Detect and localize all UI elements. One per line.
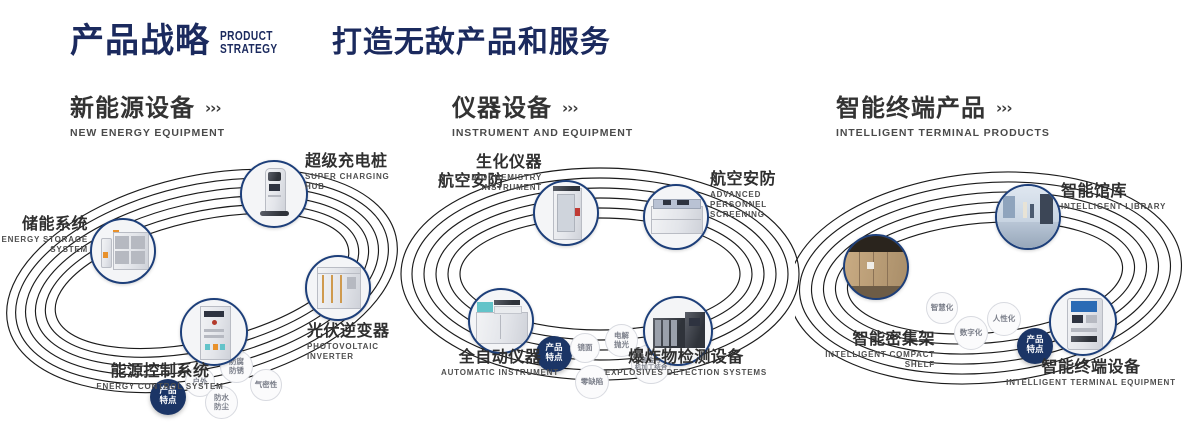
section-title-en: NEW ENERGY EQUIPMENT — [70, 127, 225, 139]
inverter-artwork — [307, 257, 369, 319]
node-intelligent-library[interactable] — [995, 184, 1061, 250]
node-intelligent-terminal-equipment[interactable] — [1049, 288, 1117, 356]
node-energy-control-system[interactable] — [180, 298, 248, 366]
label-en: SUPER CHARGING HUB — [305, 172, 402, 192]
label-cn: 储能系统 — [0, 215, 88, 233]
label-energy-storage-system: 储能系统 ENERGY STORAGE SYSTEM — [0, 215, 88, 255]
label-advanced-personnel-screening: 航空安防 ADVANCED PERSONNEL SCREENING — [710, 170, 800, 220]
terminal-equipment-artwork — [1051, 290, 1115, 354]
node-super-charging-hub[interactable] — [240, 160, 308, 228]
section-header-instrument: 仪器设备 ››› INSTRUMENT AND EQUIPMENT — [452, 96, 633, 139]
cluster-intelligent: 智慧化 数字化 人性化 产品 特点 — [795, 150, 1195, 412]
chevrons-right-icon: ››› — [562, 101, 578, 116]
feature-bubble: 人性化 — [987, 302, 1021, 336]
label-en: ENERGY CONTROL SYSTEM — [80, 382, 240, 392]
label-explosives-detection-systems: 爆炸物检测设备 EXPLOSIVES DETECTION SYSTEMS — [596, 348, 776, 378]
chevrons-right-icon: ››› — [205, 101, 221, 116]
label-cn: 生化仪器 — [430, 153, 542, 171]
compact-shelf-artwork — [845, 236, 907, 298]
label-en: INTELLIGENT TERMINAL EQUIPMENT — [991, 378, 1191, 388]
section-title-cn: 智能终端产品 — [836, 96, 986, 120]
energy-storage-artwork — [92, 220, 154, 282]
label-en: ADVANCED PERSONNEL SCREENING — [710, 190, 800, 220]
node-biochemistry-instrument[interactable] — [533, 180, 599, 246]
label-cn: 航空安防 — [710, 170, 800, 188]
label-intelligent-library: 智能馆库 INTELLIGENT LIBRARY — [1061, 182, 1166, 212]
label-cn: 超级充电桩 — [305, 152, 402, 170]
library-artwork — [997, 186, 1059, 248]
label-cn: 智能密集架 — [805, 330, 935, 348]
cluster-instrument: 产品 特点 镜面 电解 抛光 钣金与 机加工结合 零缺陷 — [400, 150, 800, 412]
page-title: 产品战略 — [70, 24, 210, 58]
section-title-en: INSTRUMENT AND EQUIPMENT — [452, 127, 633, 139]
product-strategy-infographic: 产品战略 PRODUCT STRATEGY 打造无敌产品和服务 新能源设备 ››… — [0, 0, 1200, 422]
section-header-intelligent: 智能终端产品 ››› INTELLIGENT TERMINAL PRODUCTS — [836, 96, 1050, 139]
label-photovoltaic-inverter: 光伏逆变器 PHOTOVOLTAIC INVERTER — [307, 322, 402, 362]
feature-bubble: 气密性 — [250, 369, 282, 401]
label-cn: 爆炸物检测设备 — [596, 348, 776, 366]
label-biochemistry-instrument: 生化仪器 BIOCHEMISTRY INSTRUMENT — [430, 153, 542, 193]
page-title-en: PRODUCT STRATEGY — [220, 29, 278, 56]
section-title-cn: 新能源设备 — [70, 96, 195, 120]
label-en: INTELLIGENT COMPACT SHELF — [805, 350, 935, 370]
screening-artwork — [645, 186, 707, 248]
label-cn: 智能终端设备 — [991, 358, 1191, 376]
automatic-instrument-artwork — [470, 290, 532, 352]
label-energy-control-system: 能源控制系统 ENERGY CONTROL SYSTEM — [80, 362, 240, 392]
label-cn: 能源控制系统 — [80, 362, 240, 380]
biochemistry-artwork — [535, 182, 597, 244]
chevrons-right-icon: ››› — [996, 101, 1012, 116]
node-advanced-personnel-screening[interactable] — [643, 184, 709, 250]
label-en: ENERGY STORAGE SYSTEM — [0, 235, 88, 255]
section-title-cn: 仪器设备 — [452, 96, 552, 120]
control-system-artwork — [182, 300, 246, 364]
label-intelligent-compact-shelf: 智能密集架 INTELLIGENT COMPACT SHELF — [805, 330, 935, 370]
page-header: 产品战略 PRODUCT STRATEGY 打造无敌产品和服务 — [70, 24, 611, 58]
label-en: PHOTOVOLTAIC INVERTER — [307, 342, 402, 362]
label-en: EXPLOSIVES DETECTION SYSTEMS — [596, 368, 776, 378]
page-subtitle: 打造无敌产品和服务 — [332, 28, 611, 58]
feature-bubble: 智慧化 — [926, 292, 958, 324]
label-automatic-instrument: 全自动仪器 AUTOMATIC INSTRUMENT — [420, 348, 580, 378]
node-photovoltaic-inverter[interactable] — [305, 255, 371, 321]
section-title-en: INTELLIGENT TERMINAL PRODUCTS — [836, 127, 1050, 139]
cluster-new-energy: 产品 特点 户外 防腐 防锈 防水 防尘 气密性 — [2, 150, 402, 412]
label-cn: 全自动仪器 — [420, 348, 580, 366]
charging-hub-artwork — [242, 162, 306, 226]
label-en: AUTOMATIC INSTRUMENT — [420, 368, 580, 378]
node-intelligent-compact-shelf[interactable] — [843, 234, 909, 300]
node-automatic-instrument[interactable] — [468, 288, 534, 354]
node-energy-storage-system[interactable] — [90, 218, 156, 284]
label-en: INTELLIGENT LIBRARY — [1061, 202, 1166, 212]
label-cn: 智能馆库 — [1061, 182, 1166, 200]
feature-bubble: 数字化 — [954, 316, 988, 350]
label-super-charging-hub: 超级充电桩 SUPER CHARGING HUB — [305, 152, 402, 192]
label-intelligent-terminal-equipment: 智能终端设备 INTELLIGENT TERMINAL EQUIPMENT — [991, 358, 1191, 388]
label-en: BIOCHEMISTRY INSTRUMENT — [430, 173, 542, 193]
section-header-new-energy: 新能源设备 ››› NEW ENERGY EQUIPMENT — [70, 96, 225, 139]
label-cn: 光伏逆变器 — [307, 322, 402, 340]
